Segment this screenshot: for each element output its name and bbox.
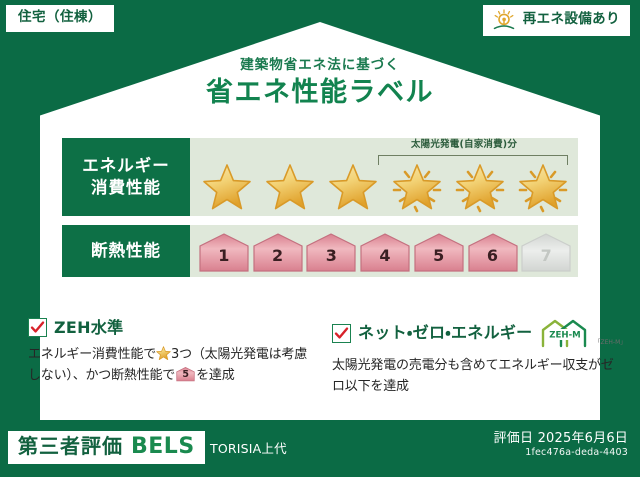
zeh-description: エネルギー消費性能で3つ（太陽光発電は考慮しない）、かつ断熱性能で5を達成 (28, 344, 314, 386)
performance-rows: エネルギー 消費性能 太陽光発電(自家消費)分 (62, 138, 578, 286)
star-icon (156, 346, 171, 361)
grade-badge: 4 (359, 231, 411, 273)
criteria-sections: ZEH水準 エネルギー消費性能で3つ（太陽光発電は考慮しない）、かつ断熱性能で5… (28, 318, 618, 397)
energy-performance-label-cell: エネルギー 消費性能 (62, 138, 190, 216)
star-item (324, 160, 382, 214)
grade-number: 7 (520, 248, 572, 264)
star-icon (265, 163, 315, 211)
star-item (261, 160, 319, 214)
star-item-solar (514, 160, 572, 214)
nze-description: 太陽光発電の売電分も含めてエネルギー収支がゼロ以下を達成 (332, 355, 618, 397)
label-main-title: 省エネ性能ラベル (0, 76, 640, 110)
energy-label-line2: 消費性能 (91, 177, 161, 199)
renewable-equipment-badge: 再エネ設備あり (483, 5, 630, 36)
star-icon (455, 163, 505, 211)
evaluation-date-value: 2025年6月6日 (538, 431, 628, 446)
insulation-grade-group: 1 2 3 (198, 229, 572, 273)
grade-badge-inactive: 7 (520, 231, 572, 273)
grade-badge: 1 (198, 231, 250, 273)
check-icon (28, 318, 47, 337)
renewable-badge-label: 再エネ設備あり (523, 13, 620, 27)
zeh-text-part1: エネルギー消費性能で (28, 347, 156, 362)
grade-badge: 2 (252, 231, 304, 273)
label-subtitle: 建築物省エネ法に基づく (0, 58, 640, 73)
insulation-label-text: 断熱性能 (91, 240, 161, 262)
check-icon (332, 324, 351, 343)
grade-number: 2 (252, 248, 304, 264)
energy-rating-area: 太陽光発電(自家消費)分 (190, 138, 578, 216)
grade-number: 4 (359, 248, 411, 264)
grade-number: 3 (305, 248, 357, 264)
star-icon (392, 163, 442, 211)
star-item-solar (388, 160, 446, 214)
star-icon (202, 163, 252, 211)
nze-title: ネット・ゼロ・エネルギー (358, 325, 532, 341)
zeh-m-logo-caption: 「ZEH-M」 (594, 337, 626, 346)
evaluation-date: 評価日 2025年6月6日 (494, 431, 628, 447)
zeh-title: ZEH水準 (54, 320, 123, 336)
zeh-m-logo-icon: ZEH-M (539, 318, 591, 348)
energy-performance-row: エネルギー 消費性能 太陽光発電(自家消費)分 (62, 138, 578, 216)
zeh-section: ZEH水準 エネルギー消費性能で3つ（太陽光発電は考慮しない）、かつ断熱性能で5… (28, 318, 314, 397)
grade-number: 1 (198, 248, 250, 264)
building-type-tag: 住宅（住棟） (6, 5, 114, 32)
grade-badge: 3 (305, 231, 357, 273)
sun-solar-icon (491, 9, 517, 31)
inline-grade-number: 5 (176, 370, 195, 380)
star-item-solar (451, 160, 509, 214)
bels-certification-box: 第三者評価 BELS (8, 431, 205, 464)
owner-name: TORISIA上代 (210, 443, 287, 456)
label-footer: 第三者評価 BELS TORISIA上代 評価日 2025年6月6日 1fec4… (0, 423, 640, 477)
bels-en-label: BELS (131, 436, 195, 458)
star-icon (328, 163, 378, 211)
zeh-text-part3: を達成 (196, 368, 234, 383)
insulation-performance-label-cell: 断熱性能 (62, 225, 190, 277)
energy-performance-label: 住宅（住棟） 再エネ設備あり 建築物省エネ法に基づく 省エネ性能ラベル (0, 0, 640, 477)
evaluation-info: 評価日 2025年6月6日 1fec476a-deda-4403 (494, 431, 628, 460)
bels-jp-label: 第三者評価 (18, 436, 123, 456)
label-title-block: 建築物省エネ法に基づく 省エネ性能ラベル (0, 58, 640, 110)
evaluation-date-label: 評価日 (494, 431, 534, 446)
star-rating-group (198, 160, 572, 214)
grade-badge: 5 (413, 231, 465, 273)
svg-text:ZEH-M: ZEH-M (550, 331, 581, 341)
zeh-heading: ZEH水準 (28, 318, 314, 337)
insulation-grade-area: 1 2 3 (190, 225, 578, 277)
evaluation-id: 1fec476a-deda-4403 (494, 447, 628, 459)
star-item (198, 160, 256, 214)
grade-number: 5 (413, 248, 465, 264)
nze-heading: ネット・ゼロ・エネルギー ZEH-M 「ZEH-M」 (332, 318, 618, 348)
insulation-performance-row: 断熱性能 (62, 225, 578, 277)
energy-label-line1: エネルギー (82, 155, 170, 177)
star-icon (518, 163, 568, 211)
inline-grade-badge: 5 (176, 366, 195, 382)
solar-bracket-caption: 太陽光発電(自家消費)分 (350, 140, 578, 150)
net-zero-energy-section: ネット・ゼロ・エネルギー ZEH-M 「ZEH-M」 太陽光発電の売電分も含めて… (332, 318, 618, 397)
grade-badge: 6 (467, 231, 519, 273)
grade-number: 6 (467, 248, 519, 264)
